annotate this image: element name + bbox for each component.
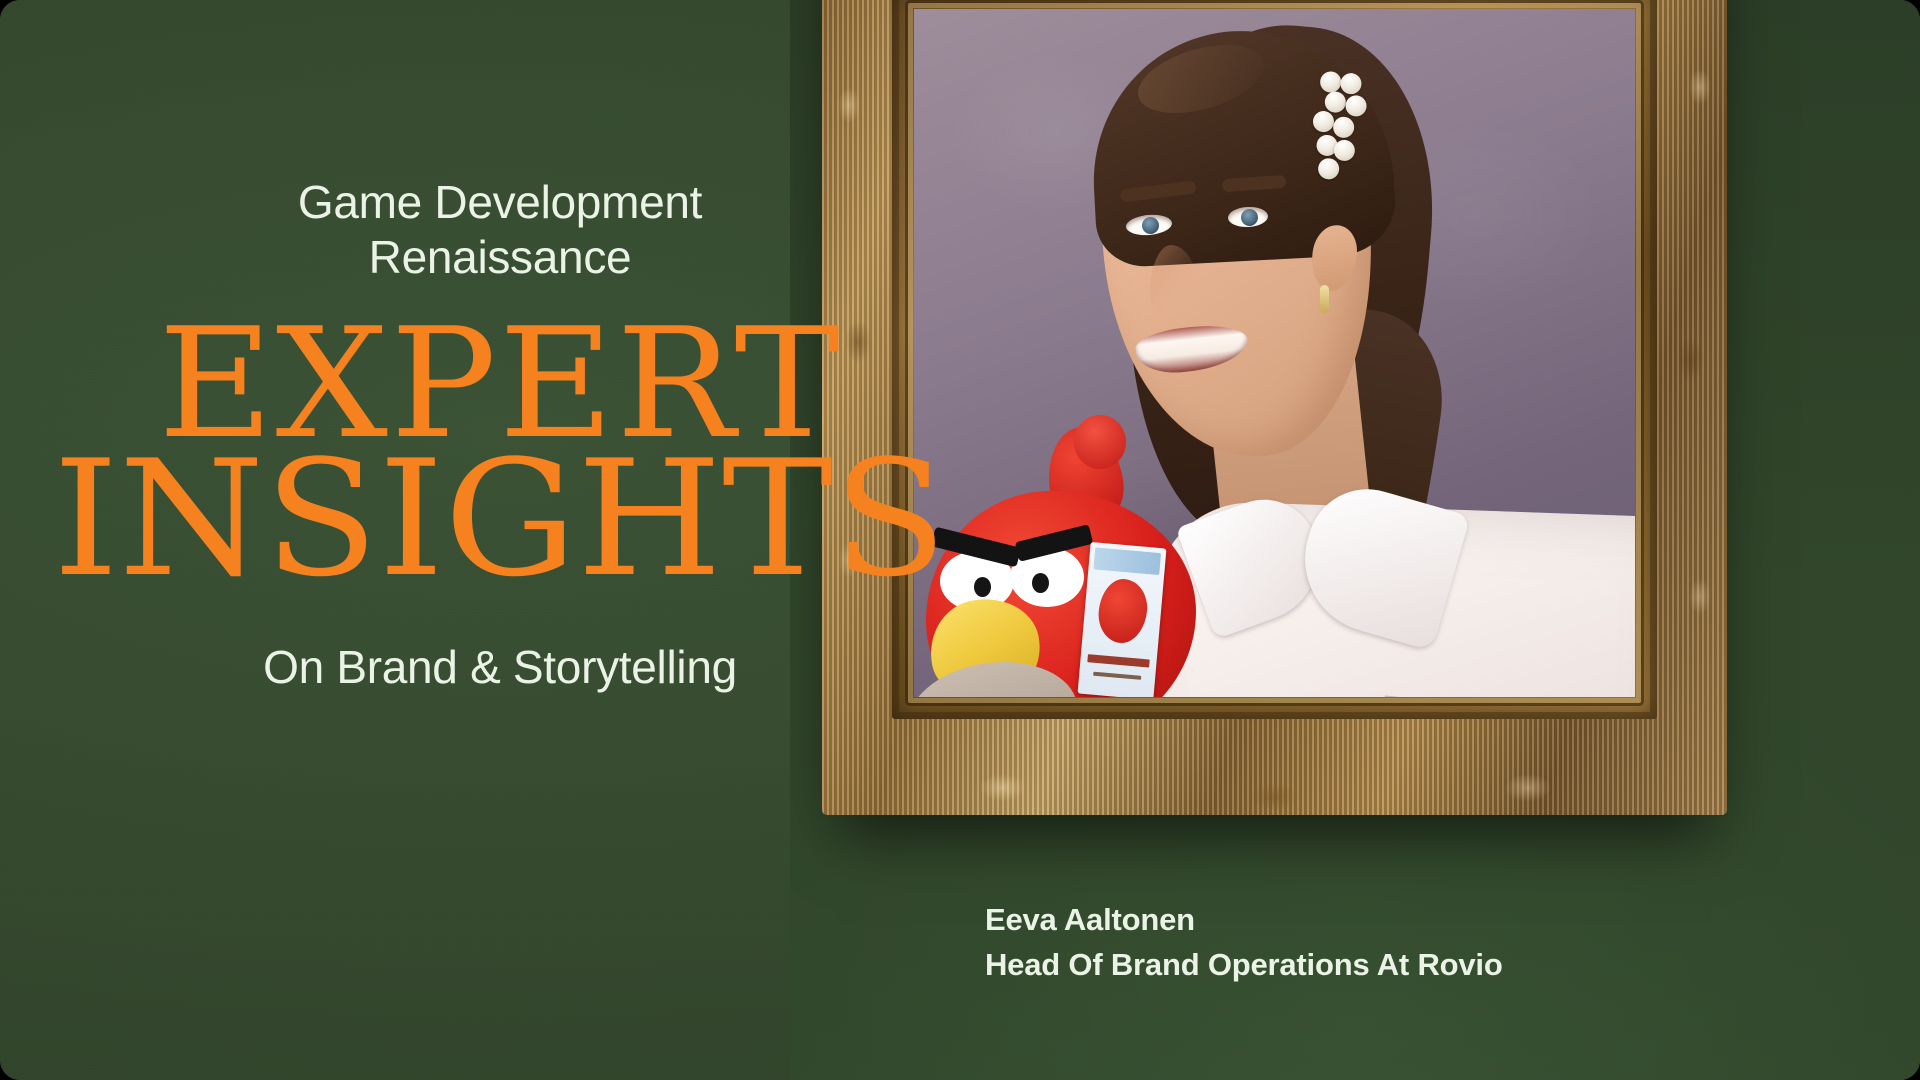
- pearl-bead: [1331, 114, 1357, 140]
- tag-title-text: [1087, 654, 1149, 667]
- speaker-name: Eeva Aaltonen: [985, 898, 1503, 943]
- pearl-bead: [1343, 93, 1369, 119]
- iris-left: [1142, 217, 1159, 234]
- earring: [1320, 285, 1329, 313]
- portrait-photo: [914, 9, 1635, 697]
- tag-bird-graphic: [1096, 577, 1149, 645]
- display-line-insights: INSIGHTS: [0, 450, 1020, 588]
- kicker-line-1: Game Development: [0, 175, 1000, 230]
- subline: On Brand & Storytelling: [0, 640, 1000, 694]
- tag-logo-band: [1093, 547, 1161, 575]
- portrait-subject: [914, 9, 1635, 697]
- display-headline: EXPERT INSIGHTS: [0, 319, 1020, 587]
- pearl-bead: [1316, 156, 1342, 182]
- plush-pupil-right: [1032, 573, 1049, 593]
- speaker-role: Head Of Brand Operations At Rovio: [985, 943, 1503, 988]
- iris-right: [1241, 209, 1258, 226]
- tag-subtitle-text: [1093, 672, 1141, 680]
- plush-hang-tag: [1078, 542, 1167, 697]
- headline-block: Game Development Renaissance EXPERT INSI…: [0, 175, 1000, 694]
- slide-root: Game Development Renaissance EXPERT INSI…: [0, 0, 1920, 1080]
- kicker-line-2: Renaissance: [0, 230, 1000, 285]
- plush-head-pom: [1074, 415, 1126, 469]
- speaker-credit: Eeva Aaltonen Head Of Brand Operations A…: [985, 898, 1503, 988]
